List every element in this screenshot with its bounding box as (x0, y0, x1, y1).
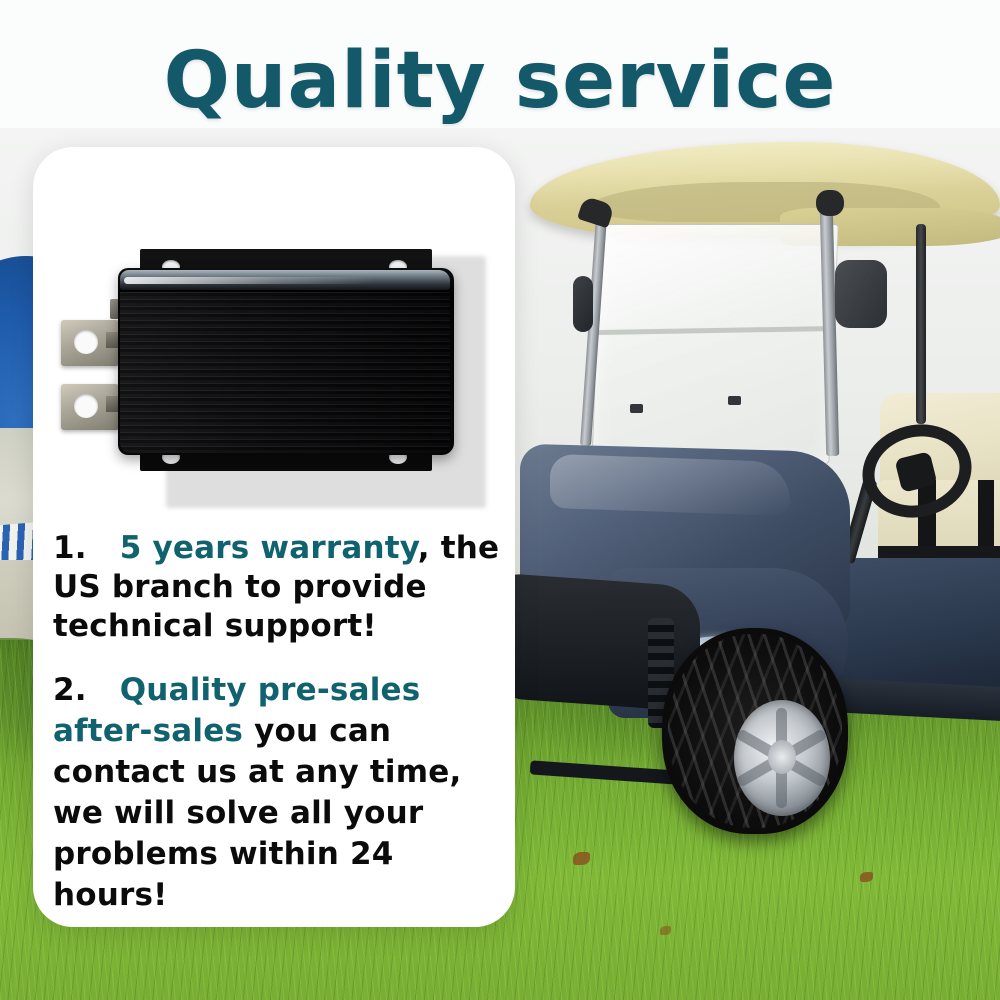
seat-gap (978, 480, 994, 546)
side-mirror-right (835, 260, 887, 328)
terminal-lug-hole (74, 330, 98, 354)
post-cap (816, 190, 844, 216)
product-image (58, 192, 488, 522)
list-item: 1. 5 years warranty, the US branch to pr… (53, 529, 505, 646)
list-item: 2. Quality pre-sales after-sales you can… (53, 670, 505, 916)
page-title: Quality service (0, 42, 1000, 120)
hood-highlight (550, 454, 790, 516)
windshield-clip (630, 404, 643, 413)
list-item-number: 2. (53, 672, 87, 708)
fallen-leaf (660, 926, 671, 935)
promo-banner: Quality service 1. (0, 0, 1000, 1000)
windshield (591, 224, 838, 464)
feature-list: 1. 5 years warranty, the US branch to pr… (53, 529, 505, 916)
windshield-clip (728, 396, 741, 405)
side-mirror-left (573, 276, 593, 332)
heatsink-specular-highlight (124, 277, 374, 284)
golf-cart (480, 128, 1000, 888)
list-item-highlight: 5 years warranty (120, 530, 418, 566)
heatsink-shading (120, 292, 450, 453)
info-card: 1. 5 years warranty, the US branch to pr… (33, 147, 515, 927)
list-item-number: 1. (53, 530, 87, 566)
cart-rear-body (832, 558, 1000, 693)
rim-center-cap (768, 740, 796, 774)
terminal-lug-hole (74, 394, 98, 418)
canopy-rear-post (916, 224, 926, 424)
